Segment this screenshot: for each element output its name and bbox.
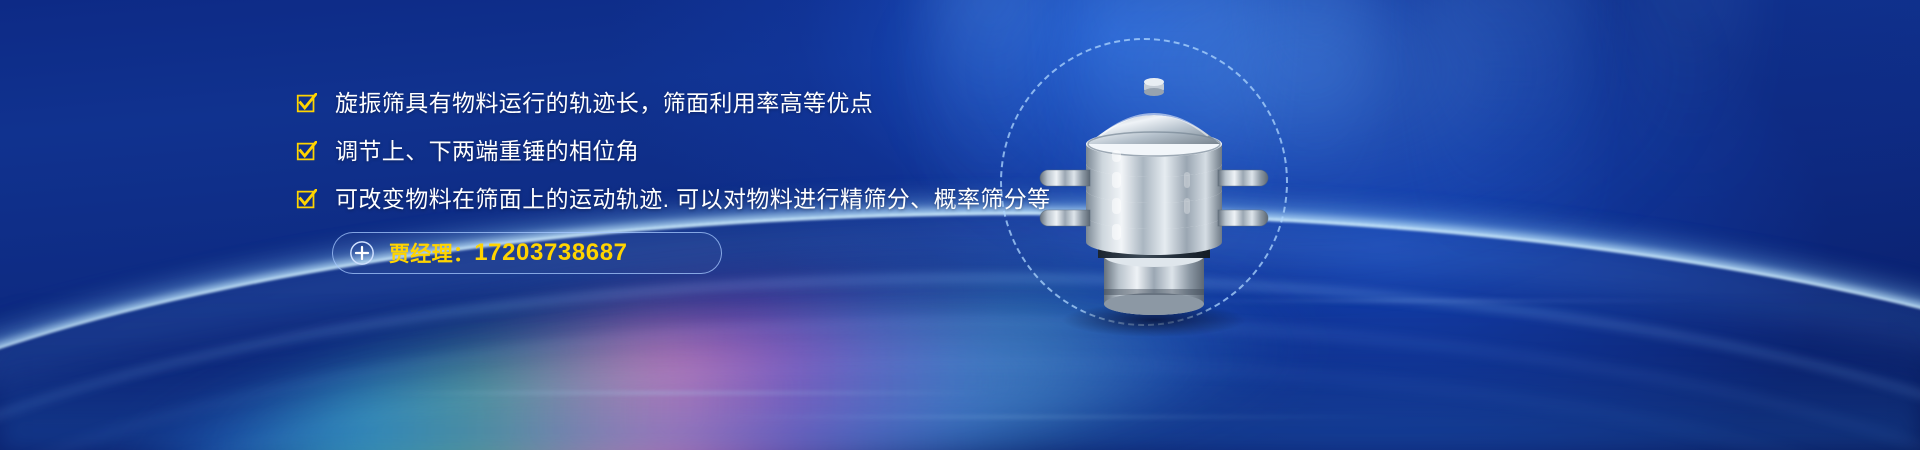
- contact-button[interactable]: 贾经理： 17203738687: [332, 232, 722, 274]
- contact-label: 贾经理：: [389, 238, 474, 268]
- list-item: 可改变物料在筛面上的运动轨迹. 可以对物料进行精筛分、概率筛分等: [296, 184, 1056, 214]
- feature-text: 旋振筛具有物料运行的轨迹长，筛面利用率高等优点: [335, 88, 873, 118]
- check-box-icon: [296, 141, 317, 162]
- check-box-icon: [296, 93, 317, 114]
- feature-text: 可改变物料在筛面上的运动轨迹. 可以对物料进行精筛分、概率筛分等: [335, 184, 1051, 214]
- list-item: 调节上、下两端重锤的相位角: [296, 136, 1056, 166]
- light-beam-decoration: [1630, 0, 1750, 220]
- check-box-icon: [296, 189, 317, 210]
- promo-banner: 旋振筛具有物料运行的轨迹长，筛面利用率高等优点 调节上、下两端重锤的相位角 可改…: [0, 0, 1920, 450]
- contact-phone: 17203738687: [474, 239, 627, 267]
- feature-list: 旋振筛具有物料运行的轨迹长，筛面利用率高等优点 调节上、下两端重锤的相位角 可改…: [296, 88, 1056, 274]
- light-beam-decoration: [1430, 0, 1590, 280]
- plus-circle-icon: [349, 240, 375, 266]
- feature-text: 调节上、下两端重锤的相位角: [335, 136, 639, 166]
- list-item: 旋振筛具有物料运行的轨迹长，筛面利用率高等优点: [296, 88, 1056, 118]
